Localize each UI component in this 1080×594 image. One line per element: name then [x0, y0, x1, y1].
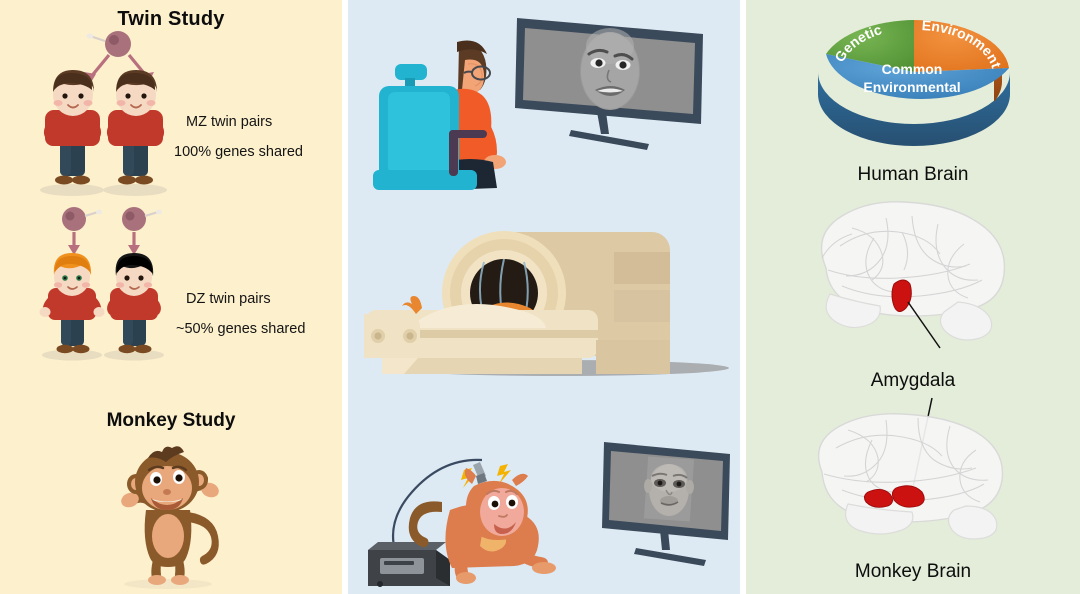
monkey-tail	[409, 501, 442, 547]
monkey-tail	[187, 512, 219, 565]
variance-pie-chart: Genetic Environmental Common Environment…	[806, 2, 1026, 147]
pie-label-common-environmental-line1: Common	[882, 61, 943, 77]
monkey-study-title: Monkey Study	[0, 410, 342, 432]
monkey-recording-setup	[354, 418, 734, 588]
mz-twin-pairs-label: MZ twin pairs	[186, 114, 272, 130]
human-face-image	[580, 28, 640, 110]
mz-genes-shared-label: 100% genes shared	[174, 144, 303, 160]
human-brain-label: Human Brain	[746, 164, 1080, 186]
cartoon-monkey-illustration	[96, 448, 246, 588]
dz-twin-left-red-hair	[40, 253, 105, 361]
amygdala-label: Amygdala	[746, 370, 1080, 392]
panel-twin-study: Twin Study	[0, 0, 342, 594]
tv-monkey-face-stimulus	[602, 442, 730, 566]
pie-label-common-environmental-line2: Environmental	[863, 79, 960, 95]
human-brain-render	[782, 198, 1052, 348]
mz-twin-left	[40, 70, 104, 196]
mz-twin-right	[103, 70, 167, 196]
seated-human-participant	[373, 20, 513, 190]
mz-twin-pair-illustration	[30, 62, 190, 198]
zygote-sperm-icon	[87, 31, 131, 57]
zygote-sperm-icon-right	[122, 207, 162, 231]
electrode-probe	[473, 462, 487, 484]
tv-human-face-stimulus	[513, 8, 713, 140]
zygote-sperm-icon-left	[62, 207, 102, 231]
dz-twin-pairs-label: DZ twin pairs	[186, 291, 271, 307]
mri-scanner-illustration	[364, 190, 724, 380]
dz-arrows	[74, 232, 134, 247]
panel-brain-results: Genetic Environmental Common Environment…	[746, 0, 1080, 594]
dz-genes-shared-label: ~50% genes shared	[176, 321, 305, 337]
dz-twin-pair-illustration	[28, 250, 188, 362]
dz-twin-right-black-hair	[104, 253, 164, 361]
panel-methods	[348, 0, 740, 594]
monkey-brain-render	[790, 396, 1056, 562]
monkey-brain-label: Monkey Brain	[746, 561, 1080, 583]
recording-device	[368, 542, 450, 587]
scientific-figure: Twin Study	[0, 0, 1080, 594]
